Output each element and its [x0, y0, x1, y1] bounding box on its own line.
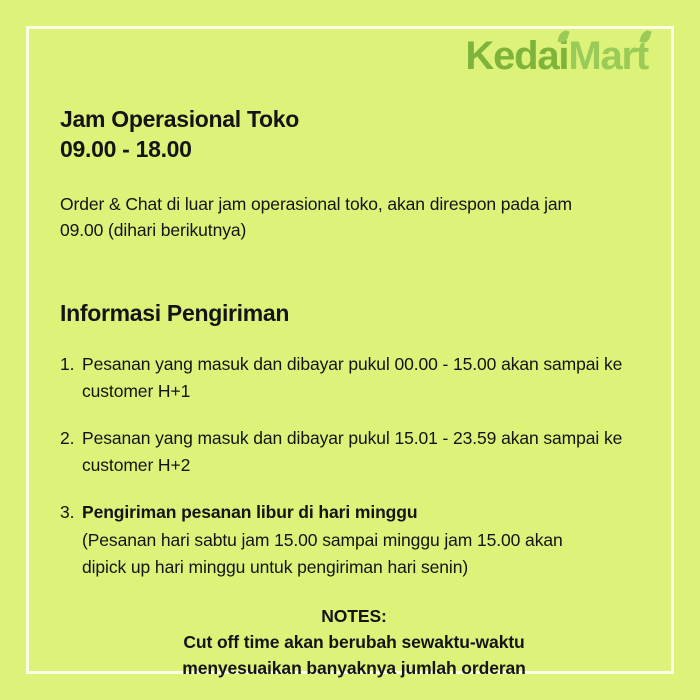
shipping-info-list: 1. Pesanan yang masuk dan dibayar pukul … — [60, 351, 648, 581]
list-item: 1. Pesanan yang masuk dan dibayar pukul … — [60, 351, 648, 405]
kedaimart-logo: KedaiMart — [465, 36, 648, 76]
operating-hours-block: Jam Operasional Toko 09.00 - 18.00 — [60, 104, 648, 165]
notes-title: NOTES: — [60, 603, 648, 629]
leaf-accent-t-icon — [640, 29, 652, 44]
list-item-bold-line: Pengiriman pesanan libur di hari minggu — [82, 499, 648, 526]
notes-block: NOTES: Cut off time akan berubah sewaktu… — [60, 603, 648, 682]
list-item-number: 1. — [60, 351, 82, 405]
list-item-text: Pesanan yang masuk dan dibayar pukul 15.… — [82, 425, 648, 479]
operating-hours-title: Jam Operasional Toko — [60, 104, 648, 134]
list-item: 3. Pengiriman pesanan libur di hari ming… — [60, 499, 648, 580]
logo-text-mart: Mart — [568, 34, 648, 78]
off-hours-note: Order & Chat di luar jam operasional tok… — [60, 191, 616, 244]
list-item-number: 2. — [60, 425, 82, 479]
list-item-text: Pengiriman pesanan libur di hari minggu … — [82, 499, 648, 580]
shipping-info-heading: Informasi Pengiriman — [60, 300, 648, 327]
list-item: 2. Pesanan yang masuk dan dibayar pukul … — [60, 425, 648, 479]
notes-line-2: menyesuaikan banyaknya jumlah orderan — [60, 655, 648, 681]
list-item-text: Pesanan yang masuk dan dibayar pukul 00.… — [82, 351, 648, 405]
list-item-number: 3. — [60, 499, 82, 580]
list-item-sub-line-1: (Pesanan hari sabtu jam 15.00 sampai min… — [82, 527, 648, 554]
promo-poster: KedaiMart Jam Operasional Toko 09.00 - 1… — [0, 0, 700, 700]
notes-line-1: Cut off time akan berubah sewaktu-waktu — [60, 629, 648, 655]
list-item-sub-line-2: dipick up hari minggu untuk pengiriman h… — [82, 554, 648, 581]
operating-hours-value: 09.00 - 18.00 — [60, 134, 648, 164]
poster-content: Jam Operasional Toko 09.00 - 18.00 Order… — [60, 104, 648, 682]
logo-text-kedai: Kedai — [465, 34, 568, 78]
